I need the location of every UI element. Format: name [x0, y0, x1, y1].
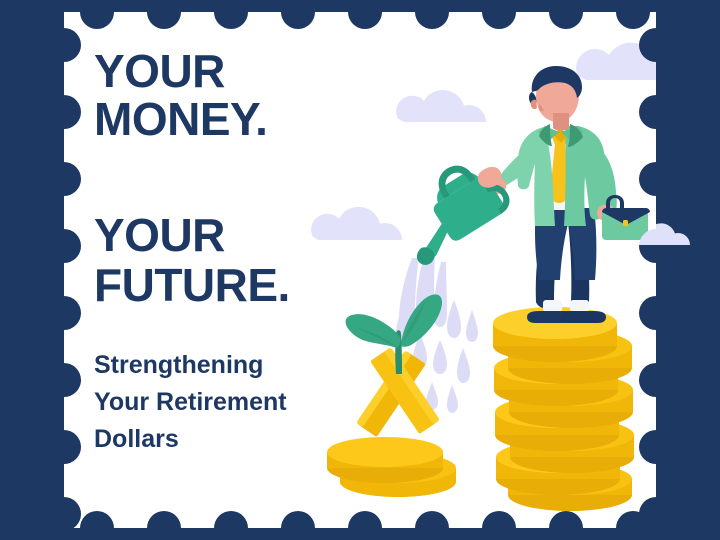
poster-canvas: YOUR MONEY. YOUR FUTURE. Strengthening Y… — [0, 0, 720, 540]
coin-stack — [493, 307, 634, 511]
poster-illustration — [0, 0, 720, 540]
